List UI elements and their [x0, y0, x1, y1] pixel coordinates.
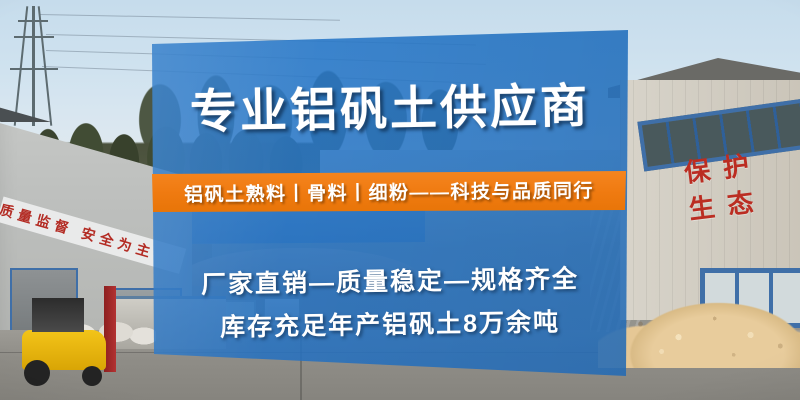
right-building-sign-text: 保护生态: [682, 139, 800, 226]
forklift-wheel: [24, 360, 50, 386]
ribbon-text: 铝矾土熟料丨骨料丨细粉——科技与品质同行: [152, 169, 626, 215]
subline-two: 库存充足年产铝矾土8万余吨: [152, 301, 629, 344]
subline-one: 厂家直销—质量稳定—规格齐全: [152, 258, 629, 301]
forklift-wheel: [82, 366, 102, 386]
forklift: [8, 286, 132, 392]
headline: 专业铝矾土供应商: [152, 76, 629, 141]
forklift-cab: [32, 298, 84, 332]
bauxite-ore-pile: [598, 258, 800, 368]
ore-texture: [598, 258, 800, 368]
bauxite-supplier-banner: 质量监督 安全为主 保护生态 专业铝矾土供应商 铝矾土熟料丨骨料丨细粉——科技与…: [0, 0, 800, 400]
